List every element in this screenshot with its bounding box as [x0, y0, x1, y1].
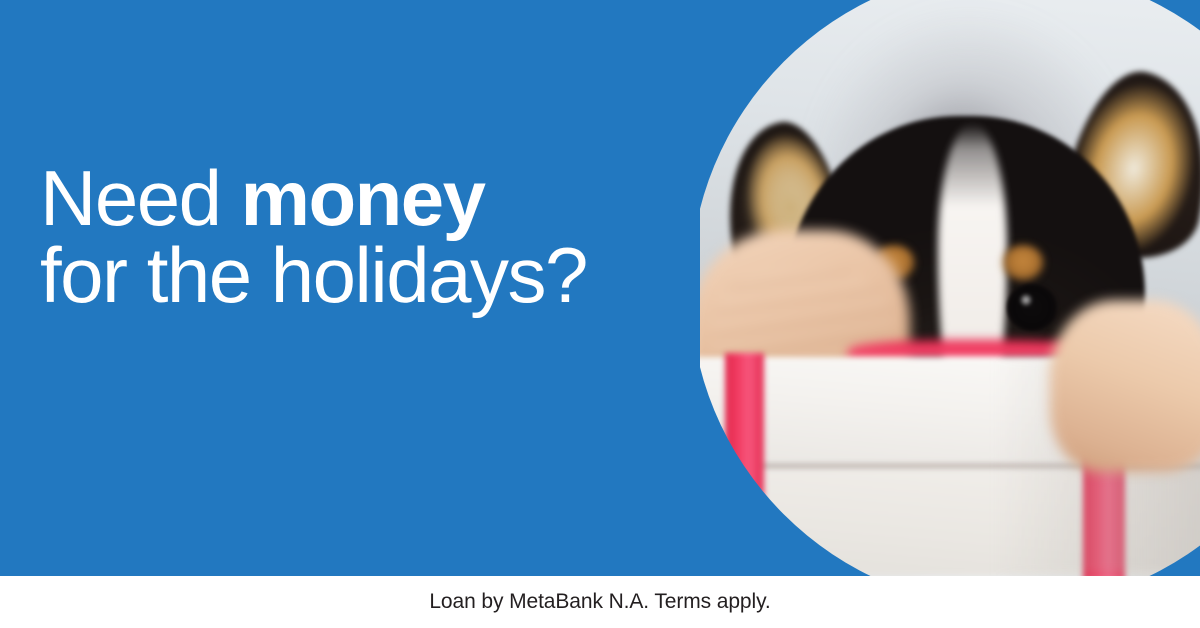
dog-right-eye: [1007, 284, 1058, 330]
footer-bar: Loan by MetaBank N.A. Terms apply.: [0, 576, 1200, 628]
ribbon-band-left: [725, 353, 764, 576]
headline: Need money for the holidays?: [40, 160, 587, 314]
headline-line-1-prefix: Need: [40, 154, 241, 242]
headline-emphasis-money: money: [241, 154, 485, 242]
headline-line-1: Need money: [40, 160, 587, 237]
dog-right-eyebrow: [1002, 245, 1043, 281]
hero-section: Need money for the holidays?: [0, 0, 1200, 576]
headline-line-2: for the holidays?: [40, 237, 587, 314]
photo-backdrop: [700, 0, 1200, 576]
hero-photo: [700, 0, 1200, 576]
promo-banner: Need money for the holidays? Loan by Met…: [0, 0, 1200, 628]
right-hand: [1050, 300, 1200, 473]
disclaimer-text: Loan by MetaBank N.A. Terms apply.: [429, 590, 770, 614]
